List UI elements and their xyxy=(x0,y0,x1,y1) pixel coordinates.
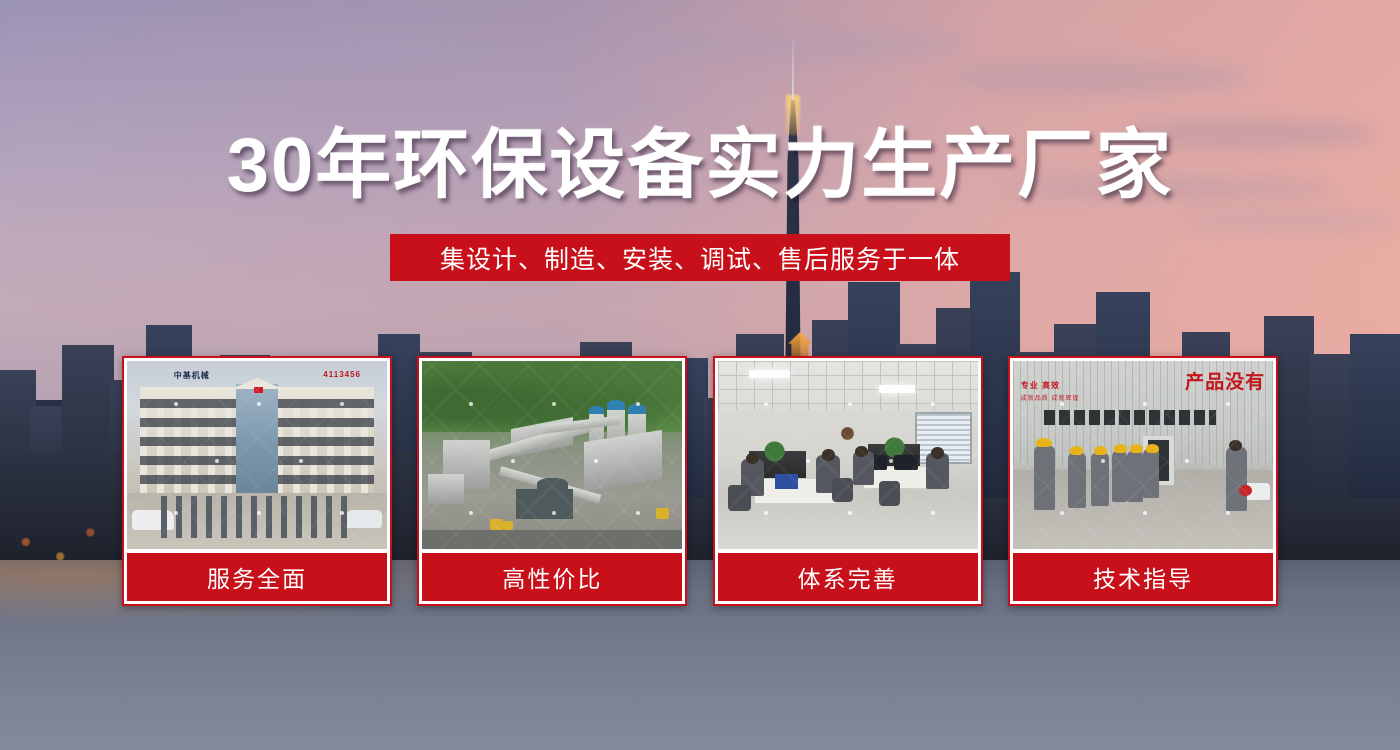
card-photo-industrial-plant xyxy=(420,359,684,551)
cloud-shape xyxy=(950,60,1250,94)
feature-card-row: 中基机械 4113456 服务全面 xyxy=(122,356,1278,606)
promotional-banner: 30年环保设备实力生产厂家 集设计、制造、安装、调试、售后服务于一体 中基机械 … xyxy=(0,0,1400,750)
card-photo-factory-workers: 产品没有 专业 高效 成就品质 成就辉煌 xyxy=(1011,359,1275,551)
card-label: 体系完善 xyxy=(718,553,978,601)
factory-banner-small-text-2: 成就品质 成就辉煌 xyxy=(1021,393,1080,402)
feature-card[interactable]: 高性价比 xyxy=(417,356,687,606)
feature-card[interactable]: 产品没有 专业 高效 成就品质 成就辉煌 xyxy=(1008,356,1278,606)
feature-card[interactable]: 体系完善 xyxy=(713,356,983,606)
page-title: 30年环保设备实力生产厂家 xyxy=(0,126,1400,206)
card-label: 高性价比 xyxy=(422,553,682,601)
tower-spire xyxy=(792,38,794,100)
card-label: 服务全面 xyxy=(127,553,387,601)
building-phone-number: 4113456 xyxy=(323,370,361,379)
cloud-shape xyxy=(1180,210,1400,232)
card-label: 技术指导 xyxy=(1013,553,1273,601)
cloud-shape xyxy=(120,40,540,70)
cloud-shape xyxy=(640,30,970,60)
cloud-shape xyxy=(300,96,660,120)
card-photo-office-building: 中基机械 4113456 xyxy=(125,359,389,551)
factory-banner-small-text: 专业 高效 xyxy=(1021,380,1060,391)
building-company-sign: 中基机械 xyxy=(174,370,210,381)
subtitle-banner: 集设计、制造、安装、调试、售后服务于一体 xyxy=(390,234,1010,281)
subtitle-text: 集设计、制造、安装、调试、售后服务于一体 xyxy=(440,240,960,276)
card-photo-office-interior xyxy=(716,359,980,551)
feature-card[interactable]: 中基机械 4113456 服务全面 xyxy=(122,356,392,606)
factory-banner-large-text: 产品没有 xyxy=(1185,367,1265,394)
